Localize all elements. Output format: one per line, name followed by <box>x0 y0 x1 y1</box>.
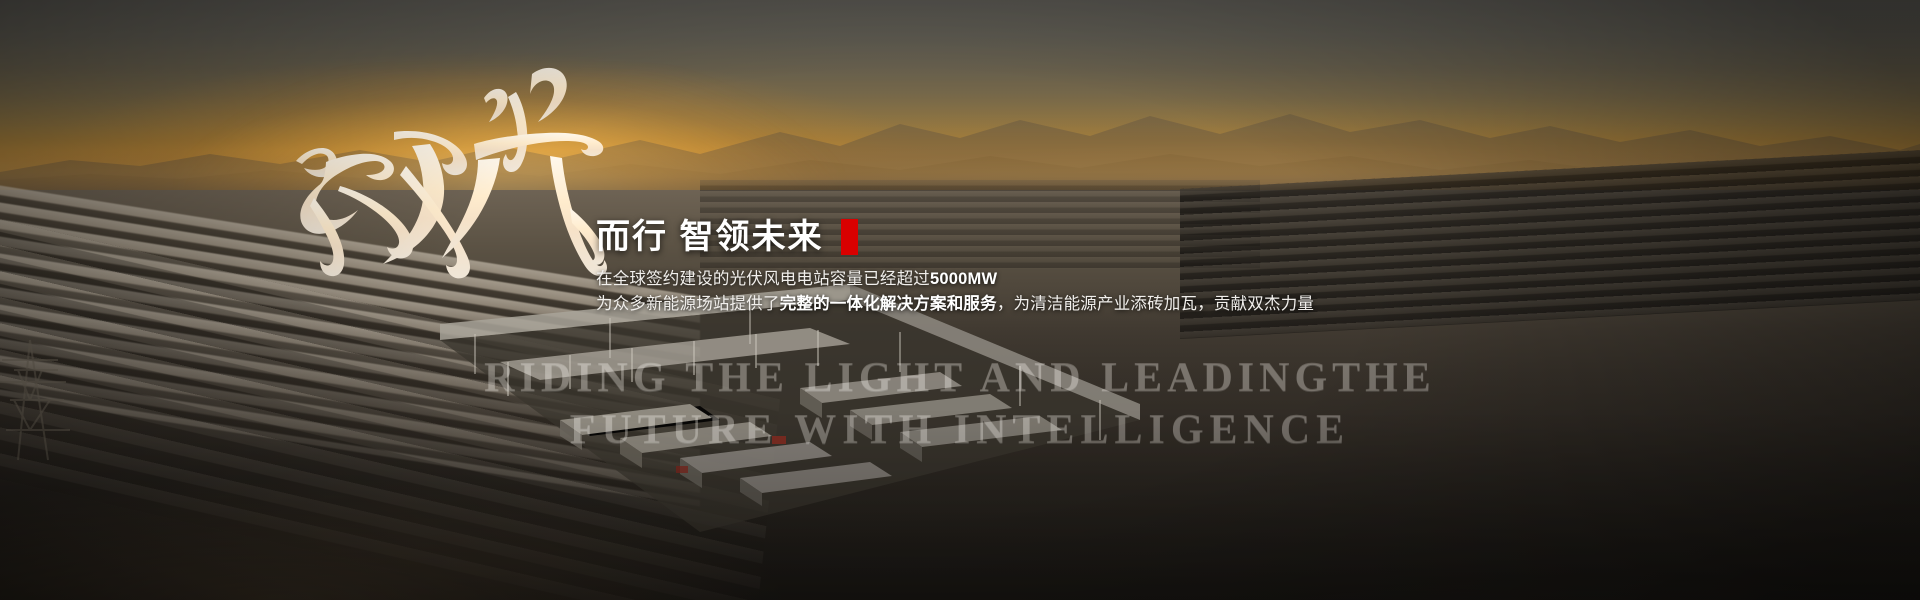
subtitle-line-2: 为众多新能源场站提供了完整的一体化解决方案和服务，为清洁能源产业添砖加瓦，贡献双… <box>596 292 1356 317</box>
page-title: 而行 智领未来 <box>596 214 1356 260</box>
subtitle-line-1-plain: 在全球签约建设的光伏风电电站容量已经超过 <box>596 270 930 288</box>
subtitle-line-2-part-b: ，为清洁能源产业添砖加瓦，贡献双杰力量 <box>997 295 1314 313</box>
subtitle-line-1-capacity: 5000MW <box>930 270 997 288</box>
hero-text-block: 而行 智领未来 在全球签约建设的光伏风电电站容量已经超过5000MW 为众多新能… <box>596 168 1356 317</box>
subtitle-line-2-part-a: 为众多新能源场站提供了 <box>596 295 780 313</box>
transmission-tower <box>0 330 110 470</box>
hero-banner: 而行 智领未来 在全球签约建设的光伏风电电站容量已经超过5000MW 为众多新能… <box>0 0 1920 600</box>
headline-text: 而行 智领未来 <box>596 220 823 254</box>
subtitle-line-2-highlight: 完整的一体化解决方案和服务 <box>780 295 997 313</box>
subtitle-line-1: 在全球签约建设的光伏风电电站容量已经超过5000MW <box>596 267 1356 292</box>
red-accent-bar <box>841 219 858 255</box>
